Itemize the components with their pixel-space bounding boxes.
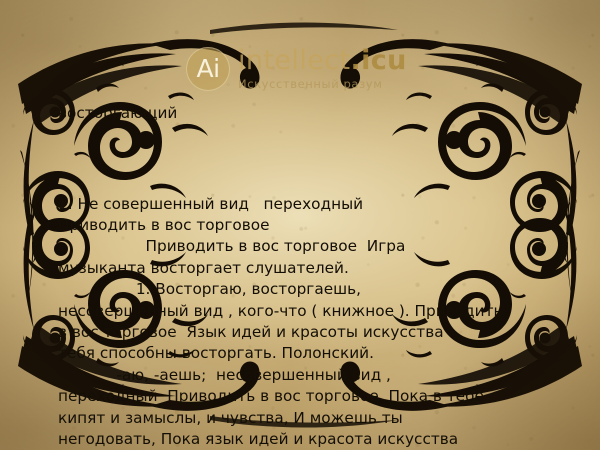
article-body: 1. Не совершенный вид переходный Приводи…: [58, 194, 550, 450]
dictionary-article: восторгающий 1. Не совершенный вид перех…: [58, 60, 550, 450]
headword: восторгающий: [58, 103, 550, 124]
parchment-page: Ai intellect.icu Искусственный разум вос…: [0, 0, 600, 450]
